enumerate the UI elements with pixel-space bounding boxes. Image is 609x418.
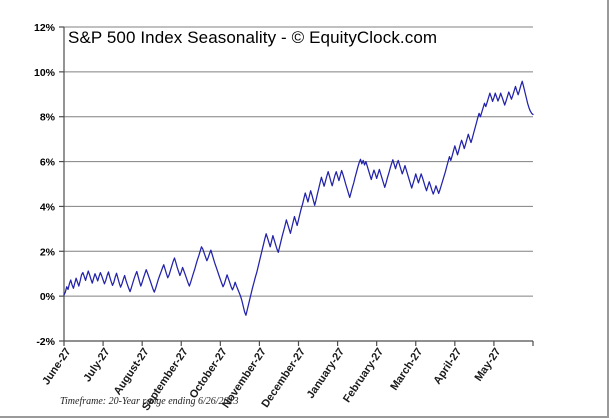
- y-axis-tick-label: 8%: [40, 112, 56, 124]
- y-axis-tick-label: 4%: [40, 201, 56, 213]
- y-axis-tick-label: 12%: [34, 22, 56, 34]
- y-axis-tick-label: 0%: [40, 291, 56, 303]
- y-axis-tick-label: 6%: [40, 157, 56, 169]
- seasonality-chart: S&P 500 Index Seasonality - © EquityCloc…: [0, 0, 605, 414]
- x-axis-tick-label: February-27: [341, 346, 386, 405]
- chart-plot-area: -2%0%2%4%6%8%10%12% June-27July-27August…: [0, 0, 605, 414]
- chart-screenshot: S&P 500 Index Seasonality - © EquityCloc…: [0, 0, 609, 418]
- y-axis-tick-label: 10%: [34, 67, 56, 79]
- x-axis-tick-label: July-27: [81, 346, 112, 384]
- x-axis-tick-label: January-27: [305, 346, 347, 401]
- x-axis-tick-label: October-27: [187, 346, 229, 401]
- y-axis-ticks: [59, 27, 64, 341]
- y-gridlines: [64, 27, 533, 341]
- x-axis-tick-label: August-27: [112, 346, 152, 397]
- x-axis-tick-label: May-27: [473, 346, 504, 384]
- x-axis-ticks: [64, 341, 533, 346]
- y-axis-tick-label: 2%: [40, 246, 56, 258]
- x-axis-tick-label: April-27: [431, 346, 464, 387]
- x-axis-tick-label: June-27: [40, 346, 73, 387]
- x-axis-tick-label: March-27: [388, 346, 425, 393]
- timeframe-footnote: Timeframe: 20-Year range ending 6/26/201…: [60, 396, 239, 407]
- y-axis-tick-labels: -2%0%2%4%6%8%10%12%: [34, 22, 56, 348]
- y-axis-tick-label: -2%: [36, 336, 55, 348]
